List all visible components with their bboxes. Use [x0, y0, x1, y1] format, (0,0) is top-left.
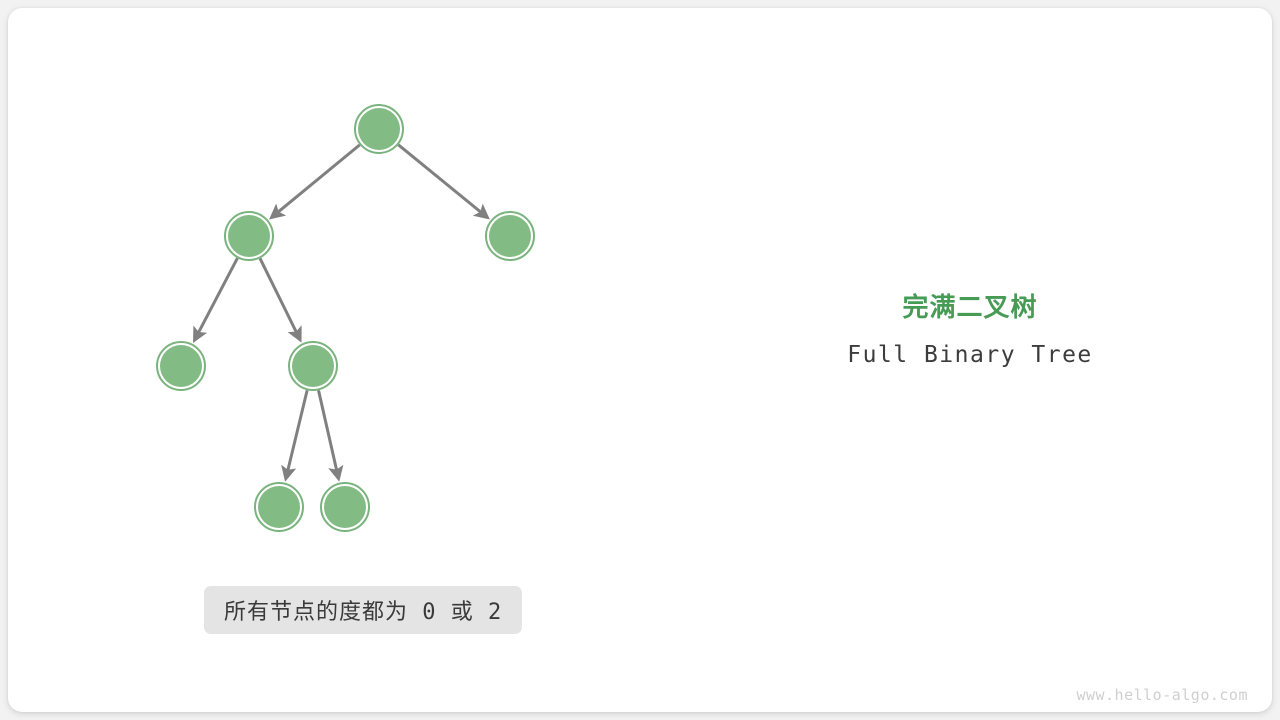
tree-node-fill [324, 486, 366, 528]
tree-node[interactable] [157, 342, 205, 390]
tree-node[interactable] [355, 105, 403, 153]
legend: 完满二叉树 Full Binary Tree [760, 290, 1180, 370]
tree-node-fill [292, 345, 334, 387]
tree-node[interactable] [225, 212, 273, 260]
tree-node[interactable] [486, 212, 534, 260]
diagram-canvas: 完满二叉树 Full Binary Tree 所有节点的度都为 0 或 2 ww… [0, 0, 1280, 720]
tree-node[interactable] [321, 483, 369, 531]
caption-text: 所有节点的度都为 0 或 2 [224, 594, 502, 626]
legend-title: 完满二叉树 [760, 290, 1180, 324]
legend-subtitle: Full Binary Tree [760, 340, 1180, 370]
watermark: www.hello-algo.com [1076, 686, 1248, 704]
tree-node-fill [489, 215, 531, 257]
tree-node-fill [160, 345, 202, 387]
tree-node-fill [358, 108, 400, 150]
tree-node-fill [228, 215, 270, 257]
tree-node[interactable] [289, 342, 337, 390]
caption-box: 所有节点的度都为 0 或 2 [204, 586, 522, 634]
tree-node[interactable] [255, 483, 303, 531]
tree-node-fill [258, 486, 300, 528]
